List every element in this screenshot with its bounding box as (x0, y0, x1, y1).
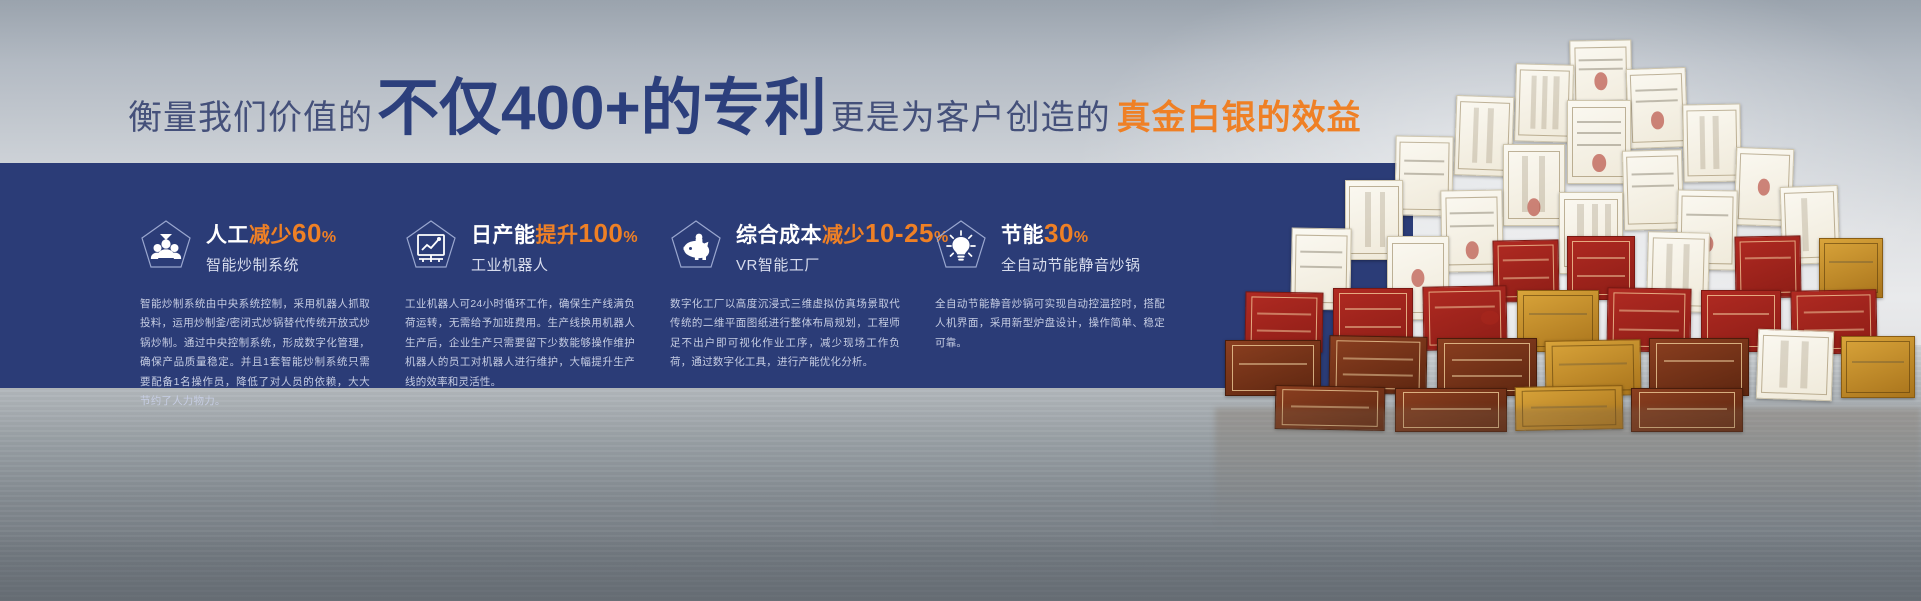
feature-panel: 人工减少60% 智能炒制系统 智能炒制系统由中央系统控制，采用机器人抓取投料，运… (0, 163, 1413, 388)
feature-item-labor: 人工减少60% 智能炒制系统 智能炒制系统由中央系统控制，采用机器人抓取投料，运… (140, 163, 393, 388)
certificate-item (1631, 388, 1743, 432)
feature-body-text: 全自动节能静音炒锅可实现自动控温控时，搭配人机界面，采用新型炉盘设计，操作简单、… (935, 295, 1165, 353)
headline-middle: 更是为客户创造的 (831, 90, 1111, 139)
feature-title: 节能30% (1001, 219, 1141, 249)
feature-title-unit: % (623, 229, 638, 246)
feature-title-number: 10-25 (865, 218, 934, 248)
feature-header: 人工减少60% 智能炒制系统 (140, 213, 393, 281)
certificate-item (1503, 144, 1565, 226)
certificate-item (1626, 67, 1689, 149)
feature-item-cost: 综合成本减少10-25% VR智能工厂 数字化工厂以高度沉浸式三维虚拟仿真场景取… (670, 163, 923, 388)
certificate-item (1841, 336, 1915, 398)
feature-subtitle: 全自动节能静音炒锅 (1001, 254, 1141, 275)
feature-title-number: 60 (292, 218, 322, 248)
certificate-item (1682, 103, 1741, 182)
certificate-item (1515, 385, 1624, 431)
feature-title-number: 100 (579, 218, 624, 248)
feature-title-highlight: 提升 (536, 224, 579, 247)
feature-title-highlight: 减少 (822, 224, 865, 247)
feature-body-text: 数字化工厂以高度沉浸式三维虚拟仿真场景取代传统的二维平面图纸进行整体布局规划，工… (670, 295, 900, 373)
people-group-icon (140, 219, 192, 275)
lightbulb-icon (935, 219, 987, 275)
piggy-bank-icon (670, 219, 722, 275)
feature-title-prefix: 人工 (206, 224, 249, 247)
certificate-item (1514, 63, 1574, 142)
feature-titles: 节能30% 全自动节能静音炒锅 (1001, 219, 1141, 275)
feature-titles: 日产能提升100% 工业机器人 (471, 219, 638, 275)
feature-body-text: 智能炒制系统由中央系统控制，采用机器人抓取投料，运用炒制釜/密闭式炒锅替代传统开… (140, 295, 370, 412)
feature-body-text: 工业机器人可24小时循环工作，确保生产线满负荷运转，无需给予加班费用。生产线换用… (405, 295, 635, 392)
feature-header: 日产能提升100% 工业机器人 (405, 213, 658, 281)
headline-emphasis: 不仅400+的专利 (377, 78, 827, 140)
feature-title-prefix: 日产能 (471, 224, 536, 247)
feature-title: 综合成本减少10-25% (736, 219, 949, 249)
feature-item-capacity: 日产能提升100% 工业机器人 工业机器人可24小时循环工作，确保生产线满负荷运… (405, 163, 658, 388)
feature-title: 日产能提升100% (471, 219, 638, 249)
headline-prefix: 衡量我们价值的 (128, 90, 373, 139)
certificate-wall (1215, 40, 1921, 470)
feature-title-unit: % (1074, 229, 1089, 246)
feature-item-energy: 节能30% 全自动节能静音炒锅 全自动节能静音炒锅可实现自动控温控时，搭配人机界… (935, 163, 1188, 388)
feature-subtitle: VR智能工厂 (736, 254, 949, 275)
feature-title: 人工减少60% (206, 219, 337, 249)
feature-title-number: 30 (1044, 218, 1074, 248)
feature-subtitle: 工业机器人 (471, 254, 638, 275)
certificate-item (1567, 100, 1631, 184)
feature-titles: 人工减少60% 智能炒制系统 (206, 219, 337, 275)
certificate-item (1622, 149, 1684, 231)
certificate-item (1756, 329, 1834, 402)
feature-title-prefix: 综合成本 (736, 224, 822, 247)
feature-subtitle: 智能炒制系统 (206, 254, 337, 275)
feature-title-unit: % (322, 229, 337, 246)
feature-header: 综合成本减少10-25% VR智能工厂 (670, 213, 923, 281)
feature-title-highlight: 减少 (249, 224, 292, 247)
feature-titles: 综合成本减少10-25% VR智能工厂 (736, 219, 949, 275)
feature-title-prefix: 节能 (1001, 224, 1044, 247)
feature-header: 节能30% 全自动节能静音炒锅 (935, 213, 1188, 281)
certificate-item (1275, 385, 1386, 431)
chart-board-icon (405, 219, 457, 275)
page-headline: 衡量我们价值的 不仅400+的专利 更是为客户创造的 真金白银的效益 (128, 78, 1362, 142)
certificate-item (1395, 388, 1507, 432)
